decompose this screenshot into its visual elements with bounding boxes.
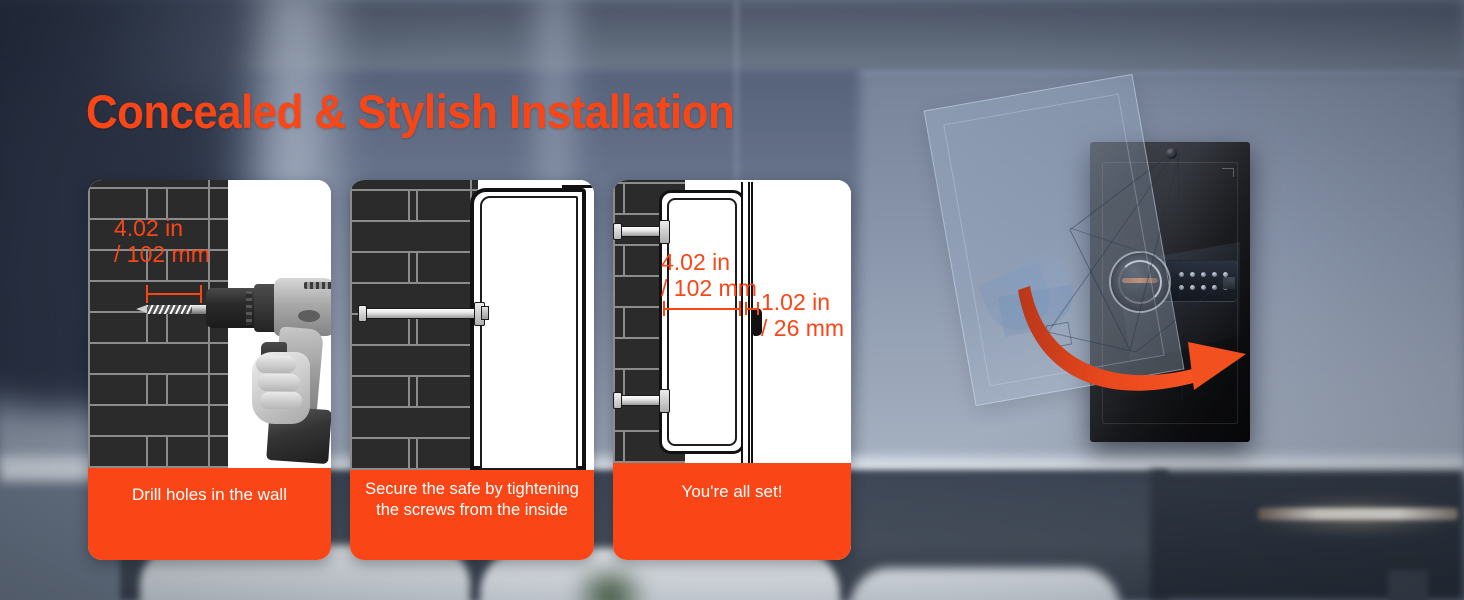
finger-3: [260, 392, 302, 409]
step-1-caption: Drill holes in the wall: [88, 468, 331, 560]
dimension-tick-left-2: [745, 302, 747, 315]
step-card-3: 4.02 in / 102 mm 1.02 in / 26 mm You're …: [613, 180, 851, 560]
dimension-label-depth: 4.02 in / 102 mm: [114, 216, 210, 268]
drill-chuck: [206, 288, 258, 328]
dimension-label-depth: 4.02 in / 102 mm: [661, 250, 757, 302]
dimension-rule-depth: [663, 308, 741, 310]
step-2-caption: Secure the safe by tightening the screws…: [350, 470, 594, 560]
page-title: Concealed & Stylish Installation: [86, 88, 734, 135]
dimension-line-2: / 102 mm: [114, 242, 210, 268]
step-card-2: Secure the safe by tightening the screws…: [350, 180, 594, 560]
safe-cavity-outline: [667, 198, 737, 446]
bolt-head-icon-top: [613, 223, 622, 240]
dimension-tick-left: [146, 285, 148, 303]
bolt-nut-icon-top: [659, 220, 670, 244]
bolt-shaft-icon: [360, 308, 484, 319]
drill-vent: [298, 310, 320, 322]
swing-arrow-body: [1018, 286, 1204, 391]
dimension-tick-right-2: [757, 302, 759, 315]
bolt-nut-icon-bottom: [659, 389, 670, 413]
finger-1: [256, 356, 296, 373]
dimension-line-1: 4.02 in: [661, 250, 757, 276]
thread-line-4: [1070, 228, 1226, 280]
drill-bit-tip-icon: [136, 305, 147, 313]
finger-2: [258, 374, 300, 391]
safe-door-inner-outline: [480, 196, 578, 470]
brick-wall: [350, 180, 478, 470]
step-card-1: 4.02 in / 102 mm Drill holes in the wall: [88, 180, 331, 560]
swing-arrow-icon: [1018, 280, 1278, 410]
bolt-head-icon: [358, 305, 367, 322]
dimension-line-2: / 26 mm: [761, 316, 844, 342]
product-scene: [930, 80, 1350, 500]
drill-icon: [206, 276, 331, 458]
swing-arrow-head: [1188, 342, 1246, 390]
safe-door-edge: [741, 182, 750, 463]
bolt-tip-icon: [481, 306, 489, 320]
bolt-shaft-icon-bottom: [615, 395, 665, 406]
dimension-rule: [146, 293, 202, 295]
dimension-line-1: 4.02 in: [114, 216, 210, 242]
step-2-illustration: [350, 180, 594, 470]
step-1-illustration: 4.02 in / 102 mm: [88, 180, 331, 468]
step-3-caption: You're all set!: [613, 463, 851, 560]
step-3-illustration: 4.02 in / 102 mm 1.02 in / 26 mm: [613, 180, 851, 463]
dimension-tick-right: [739, 301, 741, 316]
dimension-tick-right: [200, 285, 202, 303]
dimension-tick-left: [663, 301, 665, 316]
safe-frame-top: [562, 180, 594, 188]
dimension-line-2: / 102 mm: [661, 276, 757, 302]
bolt-head-icon-bottom: [613, 392, 622, 409]
bolt-shaft-icon-top: [615, 226, 665, 237]
dimension-label-protrusion: 1.02 in / 26 mm: [761, 290, 844, 342]
dimension-line-1: 1.02 in: [761, 290, 844, 316]
